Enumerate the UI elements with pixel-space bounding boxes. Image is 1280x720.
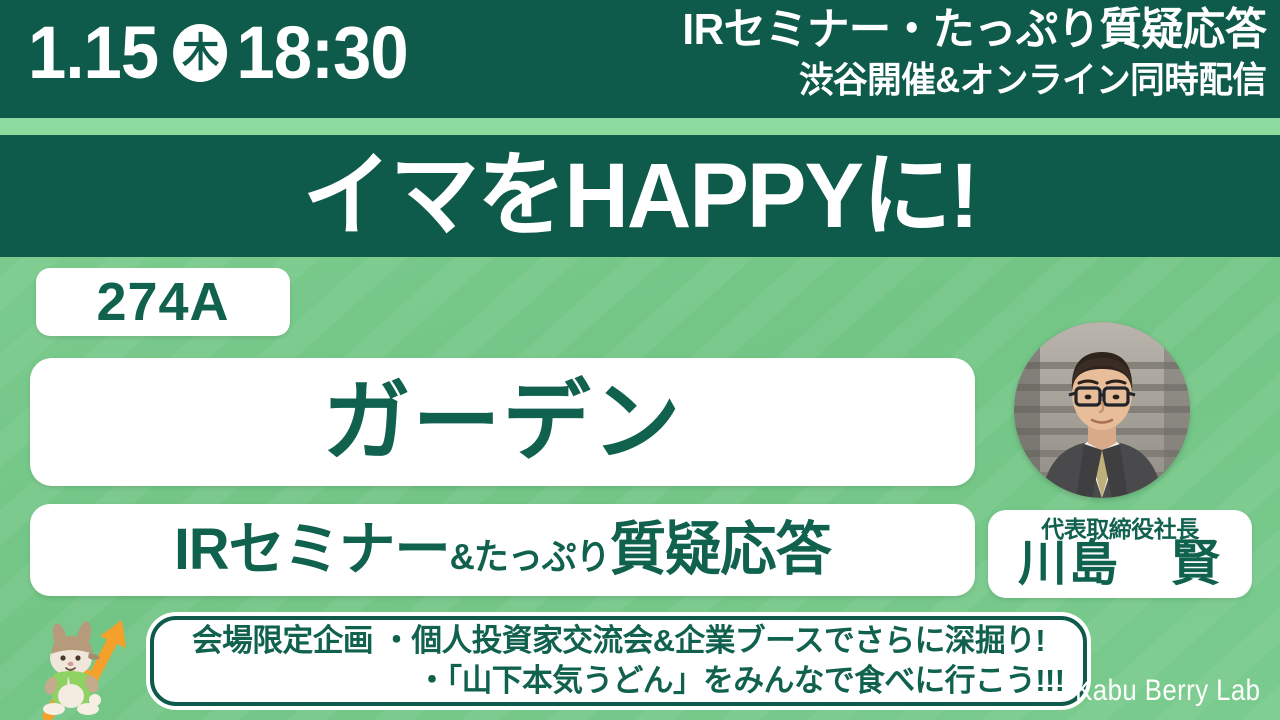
header-subtitle-line1: IRセミナー・たっぷり質疑応答 (682, 2, 1266, 58)
speaker-name: 川島 賢 (1018, 539, 1222, 589)
page-title: イマをHAPPYに! (303, 150, 978, 242)
seminar-label-card: IRセミナー &たっぷり 質疑応答 (30, 504, 975, 596)
banner-line-2: ・「山下本気うどん」をみんなで食べに行こう!!! (159, 661, 1079, 701)
speaker-portrait-photo (1014, 322, 1190, 498)
event-date: 1.15 (28, 6, 158, 100)
bottom-banner: 会場限定企画 ・個人投資家交流会&企業ブースでさらに深掘り! ・「山下本気うどん… (150, 616, 1087, 706)
seminar-label-part1: IRセミナー (174, 521, 449, 579)
ticker-code: 274A (96, 275, 229, 329)
header-subtitle-line2: 渋谷開催&オンライン同時配信 (682, 58, 1266, 102)
company-name-card: ガーデン (30, 358, 975, 486)
event-datetime: 1.15 木 18:30 (28, 6, 408, 100)
company-name: ガーデン (322, 378, 682, 466)
day-of-week-badge: 木 (173, 24, 227, 82)
rabbit-mascot-icon (26, 612, 144, 720)
thumbnail-canvas: 1.15 木 18:30 IRセミナー・たっぷり質疑応答 渋谷開催&オンライン同… (0, 0, 1280, 720)
speaker-name-card: 代表取締役社長 川島 賢 (988, 510, 1252, 598)
rabbit-mascot-illustration (26, 612, 144, 720)
banner-line-1: 会場限定企画 ・個人投資家交流会&企業ブースでさらに深掘り! (159, 621, 1079, 661)
brand-logo-text: Kabu Berry Lab (1075, 676, 1260, 706)
portrait-illustration (1014, 322, 1190, 498)
event-time: 18:30 (236, 6, 407, 100)
seminar-label-part2: &たっぷり (450, 539, 610, 575)
seminar-label-part3: 質疑応答 (610, 521, 831, 579)
header-subtitle-group: IRセミナー・たっぷり質疑応答 渋谷開催&オンライン同時配信 (658, 2, 1267, 102)
main-title-block: イマをHAPPYに! (0, 135, 1280, 257)
ticker-badge: 274A (36, 268, 290, 336)
header-bar: 1.15 木 18:30 IRセミナー・たっぷり質疑応答 渋谷開催&オンライン同… (0, 0, 1280, 118)
seminar-label: IRセミナー &たっぷり 質疑応答 (174, 521, 831, 579)
accent-band (0, 118, 1280, 135)
